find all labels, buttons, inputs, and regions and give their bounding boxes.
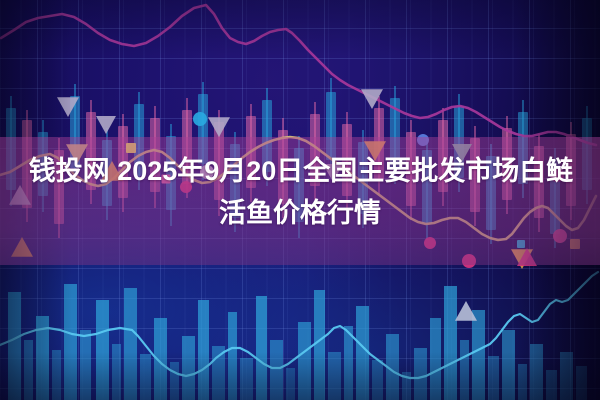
price-chart-banner: 钱投网 2025年9月20日全国主要批发市场白鲢 活鱼价格行情 xyxy=(0,0,600,400)
title-overlay-band xyxy=(0,137,600,265)
